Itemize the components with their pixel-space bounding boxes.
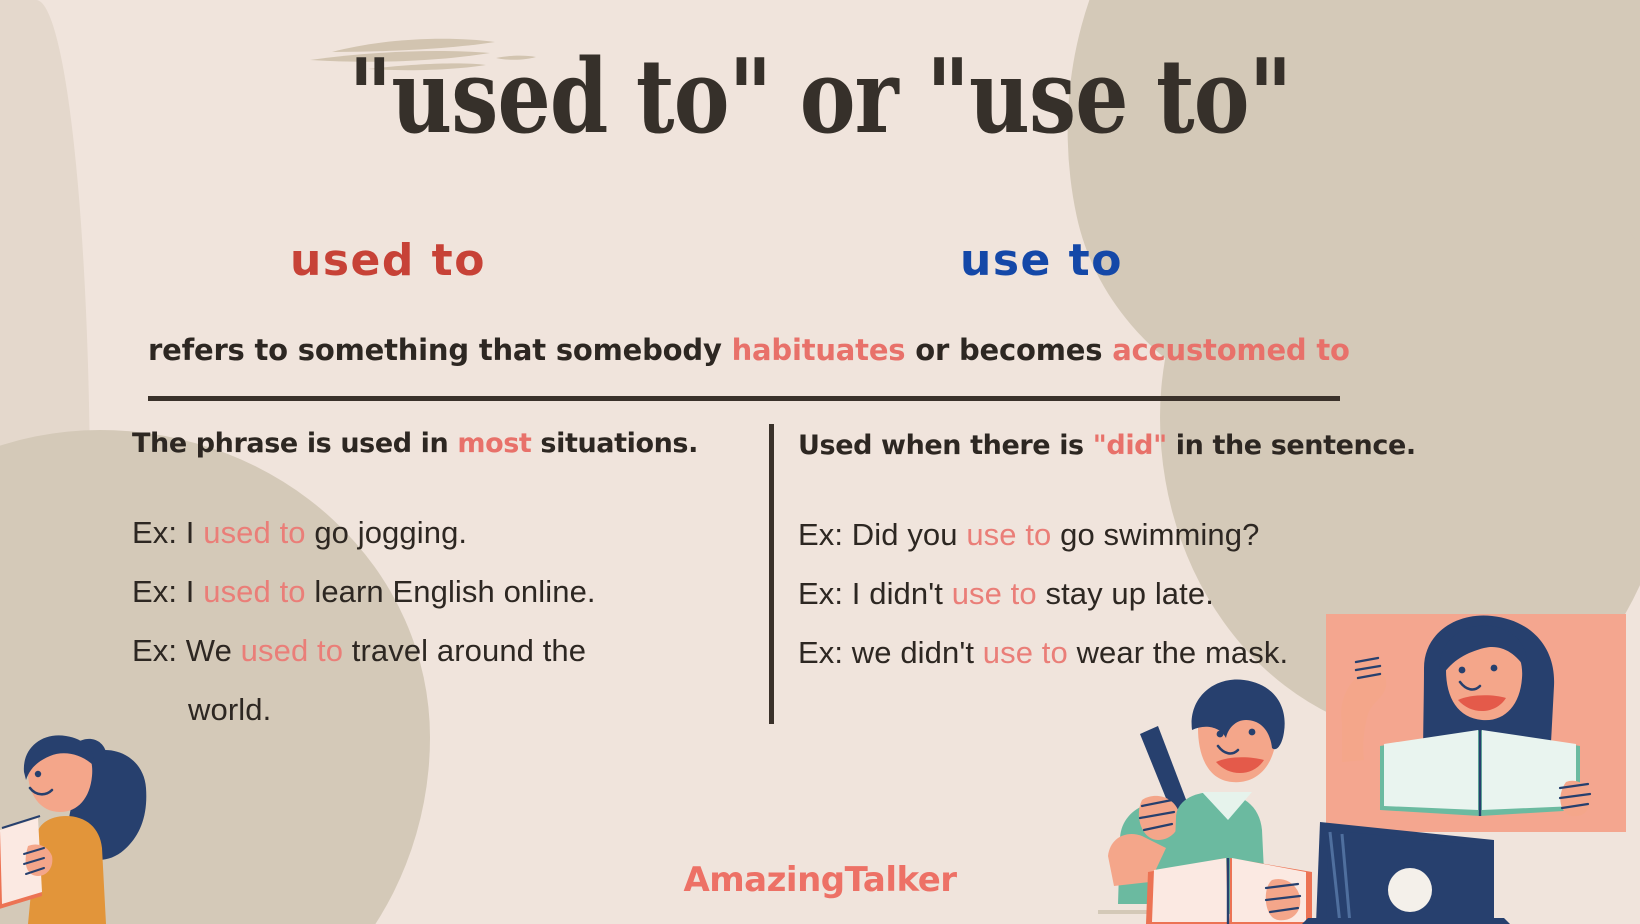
example-post: go jogging. (306, 515, 468, 550)
subtitle-pre: refers to something that somebody (148, 333, 732, 367)
example-pre: Ex: Did you (798, 517, 966, 552)
statement-post: in the sentence. (1167, 430, 1416, 461)
example-highlight: used to (203, 574, 305, 609)
subtitle-definition: refers to something that somebody habitu… (148, 333, 1343, 367)
subtitle-highlight-habituates: habituates (732, 333, 906, 367)
example-pre: Ex: We (132, 633, 241, 668)
example-pre: Ex: I (132, 574, 203, 609)
example-highlight: used to (241, 633, 343, 668)
column-heading-used-to: used to (290, 235, 486, 286)
example-pre: Ex: I didn't (798, 576, 952, 611)
subtitle-mid: or becomes (905, 333, 1112, 367)
example-highlight: use to (966, 517, 1051, 552)
statement-pre: Used when there is (798, 430, 1093, 461)
woman-reading-book-icon (1326, 614, 1626, 832)
column-heading-use-to: use to (960, 235, 1123, 286)
example-post: learn English online. (306, 574, 596, 609)
example-pre: Ex: I (132, 515, 203, 550)
example-pre: Ex: we didn't (798, 635, 983, 670)
example-highlight: use to (983, 635, 1068, 670)
statement-highlight: "did" (1093, 430, 1167, 461)
example-highlight: use to (952, 576, 1037, 611)
brand-logo-text: AmazingTalker (0, 860, 1640, 900)
statement-highlight: most (457, 428, 531, 459)
example-highlight: used to (203, 515, 305, 550)
example-post: go swimming? (1051, 517, 1259, 552)
list-item: Ex: We used to travel around the world. (132, 622, 752, 740)
example-post: travel around the (343, 633, 586, 668)
column-used-to: The phrase is used in most situations. E… (132, 428, 752, 740)
statement-pre: The phrase is used in (132, 428, 457, 459)
list-item: Ex: I used to learn English online. (132, 563, 752, 622)
vertical-divider (769, 424, 774, 724)
column-statement-used-to: The phrase is used in most situations. (132, 428, 752, 459)
column-statement-use-to: Used when there is "did" in the sentence… (798, 430, 1478, 461)
example-list-used-to: Ex: I used to go jogging. Ex: I used to … (132, 504, 752, 740)
statement-post: situations. (531, 428, 698, 459)
list-item: Ex: Did you use to go swimming? (798, 506, 1478, 565)
horizontal-divider (148, 396, 1340, 401)
subtitle-highlight-accustomed: accustomed to (1112, 333, 1350, 367)
list-item: Ex: I used to go jogging. (132, 504, 752, 563)
infographic-canvas: "used to" or "use to" used to use to ref… (0, 0, 1640, 924)
page-title: "used to" or "use to" (148, 42, 1493, 152)
